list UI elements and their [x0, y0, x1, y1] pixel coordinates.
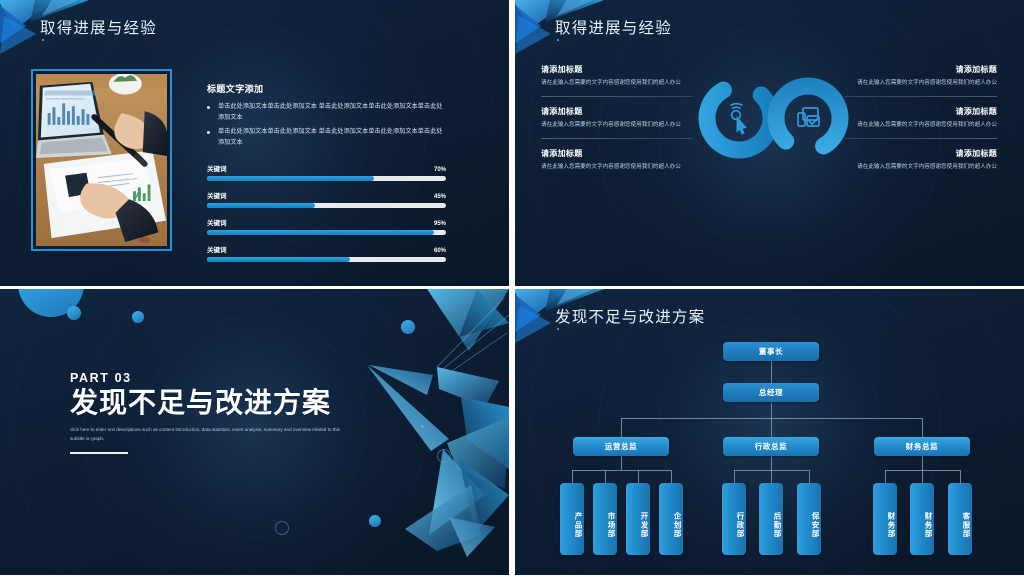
title-dot — [42, 39, 44, 41]
feature-item: 请添加标题 请在此输入您需要的文字内容感谢您使用我们的超人办公 — [845, 106, 997, 130]
feature-heading: 请添加标题 — [541, 106, 693, 117]
list-item: 单击此处添加文本单击此处添加文本 单击此处添加文本单击此处添加文本单击此处添加文… — [207, 102, 447, 124]
org-node-department[interactable]: 财务部 — [910, 483, 934, 555]
page-title: 取得进展与经验 — [555, 16, 672, 38]
divider — [845, 96, 997, 97]
feature-heading: 请添加标题 — [845, 64, 997, 75]
title-dot — [557, 39, 559, 41]
bar-value: 60% — [434, 248, 446, 254]
bar-label: 关键词 — [207, 217, 227, 227]
org-node-department[interactable]: 财务部 — [873, 483, 897, 555]
business-photo — [36, 74, 167, 246]
connector — [671, 470, 672, 483]
slide-1-progress[interactable]: 取得进展与经验 — [0, 0, 509, 286]
feature-body: 请在此输入您需要的文字内容感谢您使用我们的超人办公 — [845, 79, 997, 88]
divider — [541, 138, 693, 139]
connector — [771, 456, 772, 470]
connector — [922, 418, 923, 437]
feature-heading: 请添加标题 — [541, 148, 693, 159]
progress-row: 关键词 45% — [207, 190, 446, 208]
org-node-chairman[interactable]: 董事长 — [723, 342, 819, 361]
feature-item: 请添加标题 请在此输入您需要的文字内容感谢您使用我们的超人办公 — [541, 148, 693, 172]
section-subtitle: click here to enter text descriptions su… — [70, 426, 342, 443]
cursor-click-icon — [731, 104, 743, 120]
part-label: PART 03 — [70, 371, 380, 385]
connector — [572, 470, 671, 471]
feature-body: 请在此输入您需要的文字内容感谢您使用我们的超人办公 — [541, 163, 693, 172]
cursor-arrow-icon — [737, 116, 748, 135]
decorative-ring — [275, 521, 289, 535]
list-item: 单击此处添加文本单击此处添加文本 单击此处添加文本单击此处添加文本单击此处添加文… — [207, 127, 447, 149]
bar-fill — [207, 176, 374, 181]
progress-bar-chart: 关键词 70% 关键词 45% 关键词 95% — [207, 163, 446, 271]
progress-row: 关键词 60% — [207, 244, 446, 262]
feature-body: 请在此输入您需要的文字内容感谢您使用我们的超人办公 — [845, 121, 997, 130]
connector — [621, 456, 622, 470]
org-node-department[interactable]: 保安部 — [797, 483, 821, 555]
slide1-text-block: 标题文字添加 单击此处添加文本单击此处添加文本 单击此处添加文本单击此处添加文本… — [207, 82, 447, 151]
slide-2-infinity[interactable]: 取得进展与经验 — [515, 0, 1024, 286]
section-text-block: PART 03 发现不足与改进方案 click here to enter te… — [70, 371, 380, 454]
right-items-column: 请添加标题 请在此输入您需要的文字内容感谢您使用我们的超人办公 请添加标题 请在… — [845, 64, 997, 174]
bar-label: 关键词 — [207, 190, 227, 200]
feature-item: 请添加标题 请在此输入您需要的文字内容感谢您使用我们的超人办公 — [845, 64, 997, 88]
connector — [771, 418, 772, 437]
org-chart: 董事长 总经理 运营总监 行政总监 财务总监 产品部 市场部 开发部 企划部 行… — [515, 329, 1024, 575]
bar-label: 关键词 — [207, 244, 227, 254]
feature-body: 请在此输入您需要的文字内容感谢您使用我们的超人办公 — [845, 163, 997, 172]
org-node-director-operations[interactable]: 运营总监 — [573, 437, 669, 456]
bar-fill — [207, 257, 350, 262]
bar-value: 45% — [434, 194, 446, 200]
org-node-director-admin[interactable]: 行政总监 — [723, 437, 819, 456]
connector — [922, 456, 923, 470]
progress-row: 关键词 70% — [207, 163, 446, 181]
slide-4-org-chart[interactable]: 发现不足与改进方案 董 — [515, 289, 1024, 575]
bar-value: 95% — [434, 221, 446, 227]
progress-row: 关键词 95% — [207, 217, 446, 235]
org-node-department[interactable]: 开发部 — [626, 483, 650, 555]
feature-item: 请添加标题 请在此输入您需要的文字内容感谢您使用我们的超人办公 — [845, 148, 997, 172]
bar-track — [207, 176, 446, 181]
connector — [771, 361, 772, 383]
connector — [621, 418, 622, 437]
org-node-general-manager[interactable]: 总经理 — [723, 383, 819, 402]
decorative-circle-small — [67, 306, 81, 320]
org-node-department[interactable]: 企划部 — [659, 483, 683, 555]
decorative-circle-small — [132, 311, 144, 323]
bar-track — [207, 230, 446, 235]
connector — [771, 402, 772, 418]
slide-deck: 取得进展与经验 — [0, 0, 1024, 577]
underline-rule — [70, 452, 128, 454]
connector — [734, 470, 735, 483]
connector — [809, 470, 810, 483]
bar-fill — [207, 203, 315, 208]
bar-fill — [207, 230, 434, 235]
devices-check-icon — [798, 108, 819, 126]
connector — [572, 470, 573, 483]
page-title: 发现不足与改进方案 — [555, 305, 705, 327]
divider — [845, 138, 997, 139]
connector — [605, 470, 606, 483]
org-node-department[interactable]: 行政部 — [722, 483, 746, 555]
infinity-loop-graphic — [691, 58, 856, 178]
left-items-column: 请添加标题 请在此输入您需要的文字内容感谢您使用我们的超人办公 请添加标题 请在… — [541, 64, 693, 174]
org-node-department[interactable]: 市场部 — [593, 483, 617, 555]
feature-item: 请添加标题 请在此输入您需要的文字内容感谢您使用我们的超人办公 — [541, 64, 693, 88]
slide-3-section-divider[interactable]: PART 03 发现不足与改进方案 click here to enter te… — [0, 289, 509, 575]
photo-frame — [31, 69, 172, 251]
org-node-department[interactable]: 客服部 — [948, 483, 972, 555]
connector — [638, 470, 639, 483]
connector — [771, 470, 772, 483]
connector — [922, 470, 923, 483]
page-title: 取得进展与经验 — [40, 16, 157, 38]
org-node-department[interactable]: 产品部 — [560, 483, 584, 555]
feature-heading: 请添加标题 — [541, 64, 693, 75]
connector — [885, 470, 886, 483]
feature-body: 请在此输入您需要的文字内容感谢您使用我们的超人办公 — [541, 121, 693, 130]
connector — [960, 470, 961, 483]
feature-heading: 请添加标题 — [845, 148, 997, 159]
feature-body: 请在此输入您需要的文字内容感谢您使用我们的超人办公 — [541, 79, 693, 88]
divider — [541, 96, 693, 97]
org-node-department[interactable]: 后勤部 — [759, 483, 783, 555]
section-title: 发现不足与改进方案 — [70, 387, 380, 418]
bar-track — [207, 257, 446, 262]
content-heading: 标题文字添加 — [207, 82, 447, 95]
bar-label: 关键词 — [207, 163, 227, 173]
feature-item: 请添加标题 请在此输入您需要的文字内容感谢您使用我们的超人办公 — [541, 106, 693, 130]
bar-value: 70% — [434, 167, 446, 173]
org-node-director-finance[interactable]: 财务总监 — [874, 437, 970, 456]
feature-heading: 请添加标题 — [845, 106, 997, 117]
bullet-list: 单击此处添加文本单击此处添加文本 单击此处添加文本单击此处添加文本单击此处添加文… — [207, 102, 447, 148]
bar-track — [207, 203, 446, 208]
